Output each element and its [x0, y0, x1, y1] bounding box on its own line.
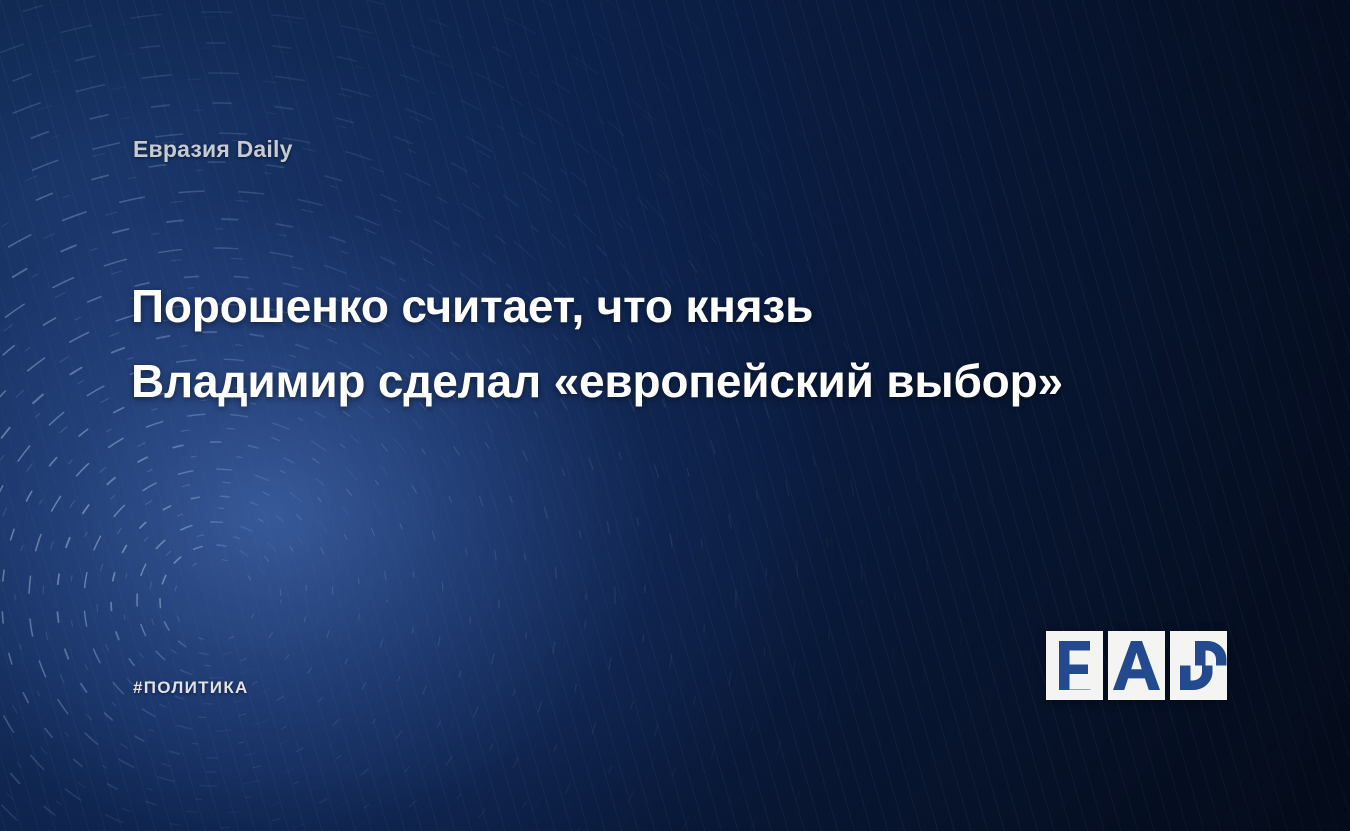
logo-tile-a — [1108, 631, 1165, 700]
category-tag[interactable]: #ПОЛИТИКА — [133, 678, 249, 698]
logo-letter-d-split-icon — [1170, 631, 1227, 700]
news-card: Евразия Daily Порошенко считает, что кня… — [0, 0, 1350, 831]
logo-tile-d-split — [1170, 631, 1227, 700]
logo-tile-e — [1046, 631, 1103, 700]
ead-logo[interactable] — [1046, 631, 1227, 700]
logo-letter-a-icon — [1108, 631, 1165, 700]
headline-line-1: Порошенко считает, что князь — [131, 269, 1241, 344]
brand-name: Евразия Daily — [133, 136, 293, 163]
headline-line-2: Владимир сделал «европейский выбор» — [131, 344, 1241, 419]
logo-letter-e-icon — [1046, 631, 1103, 700]
headline: Порошенко считает, что князь Владимир сд… — [131, 269, 1241, 419]
